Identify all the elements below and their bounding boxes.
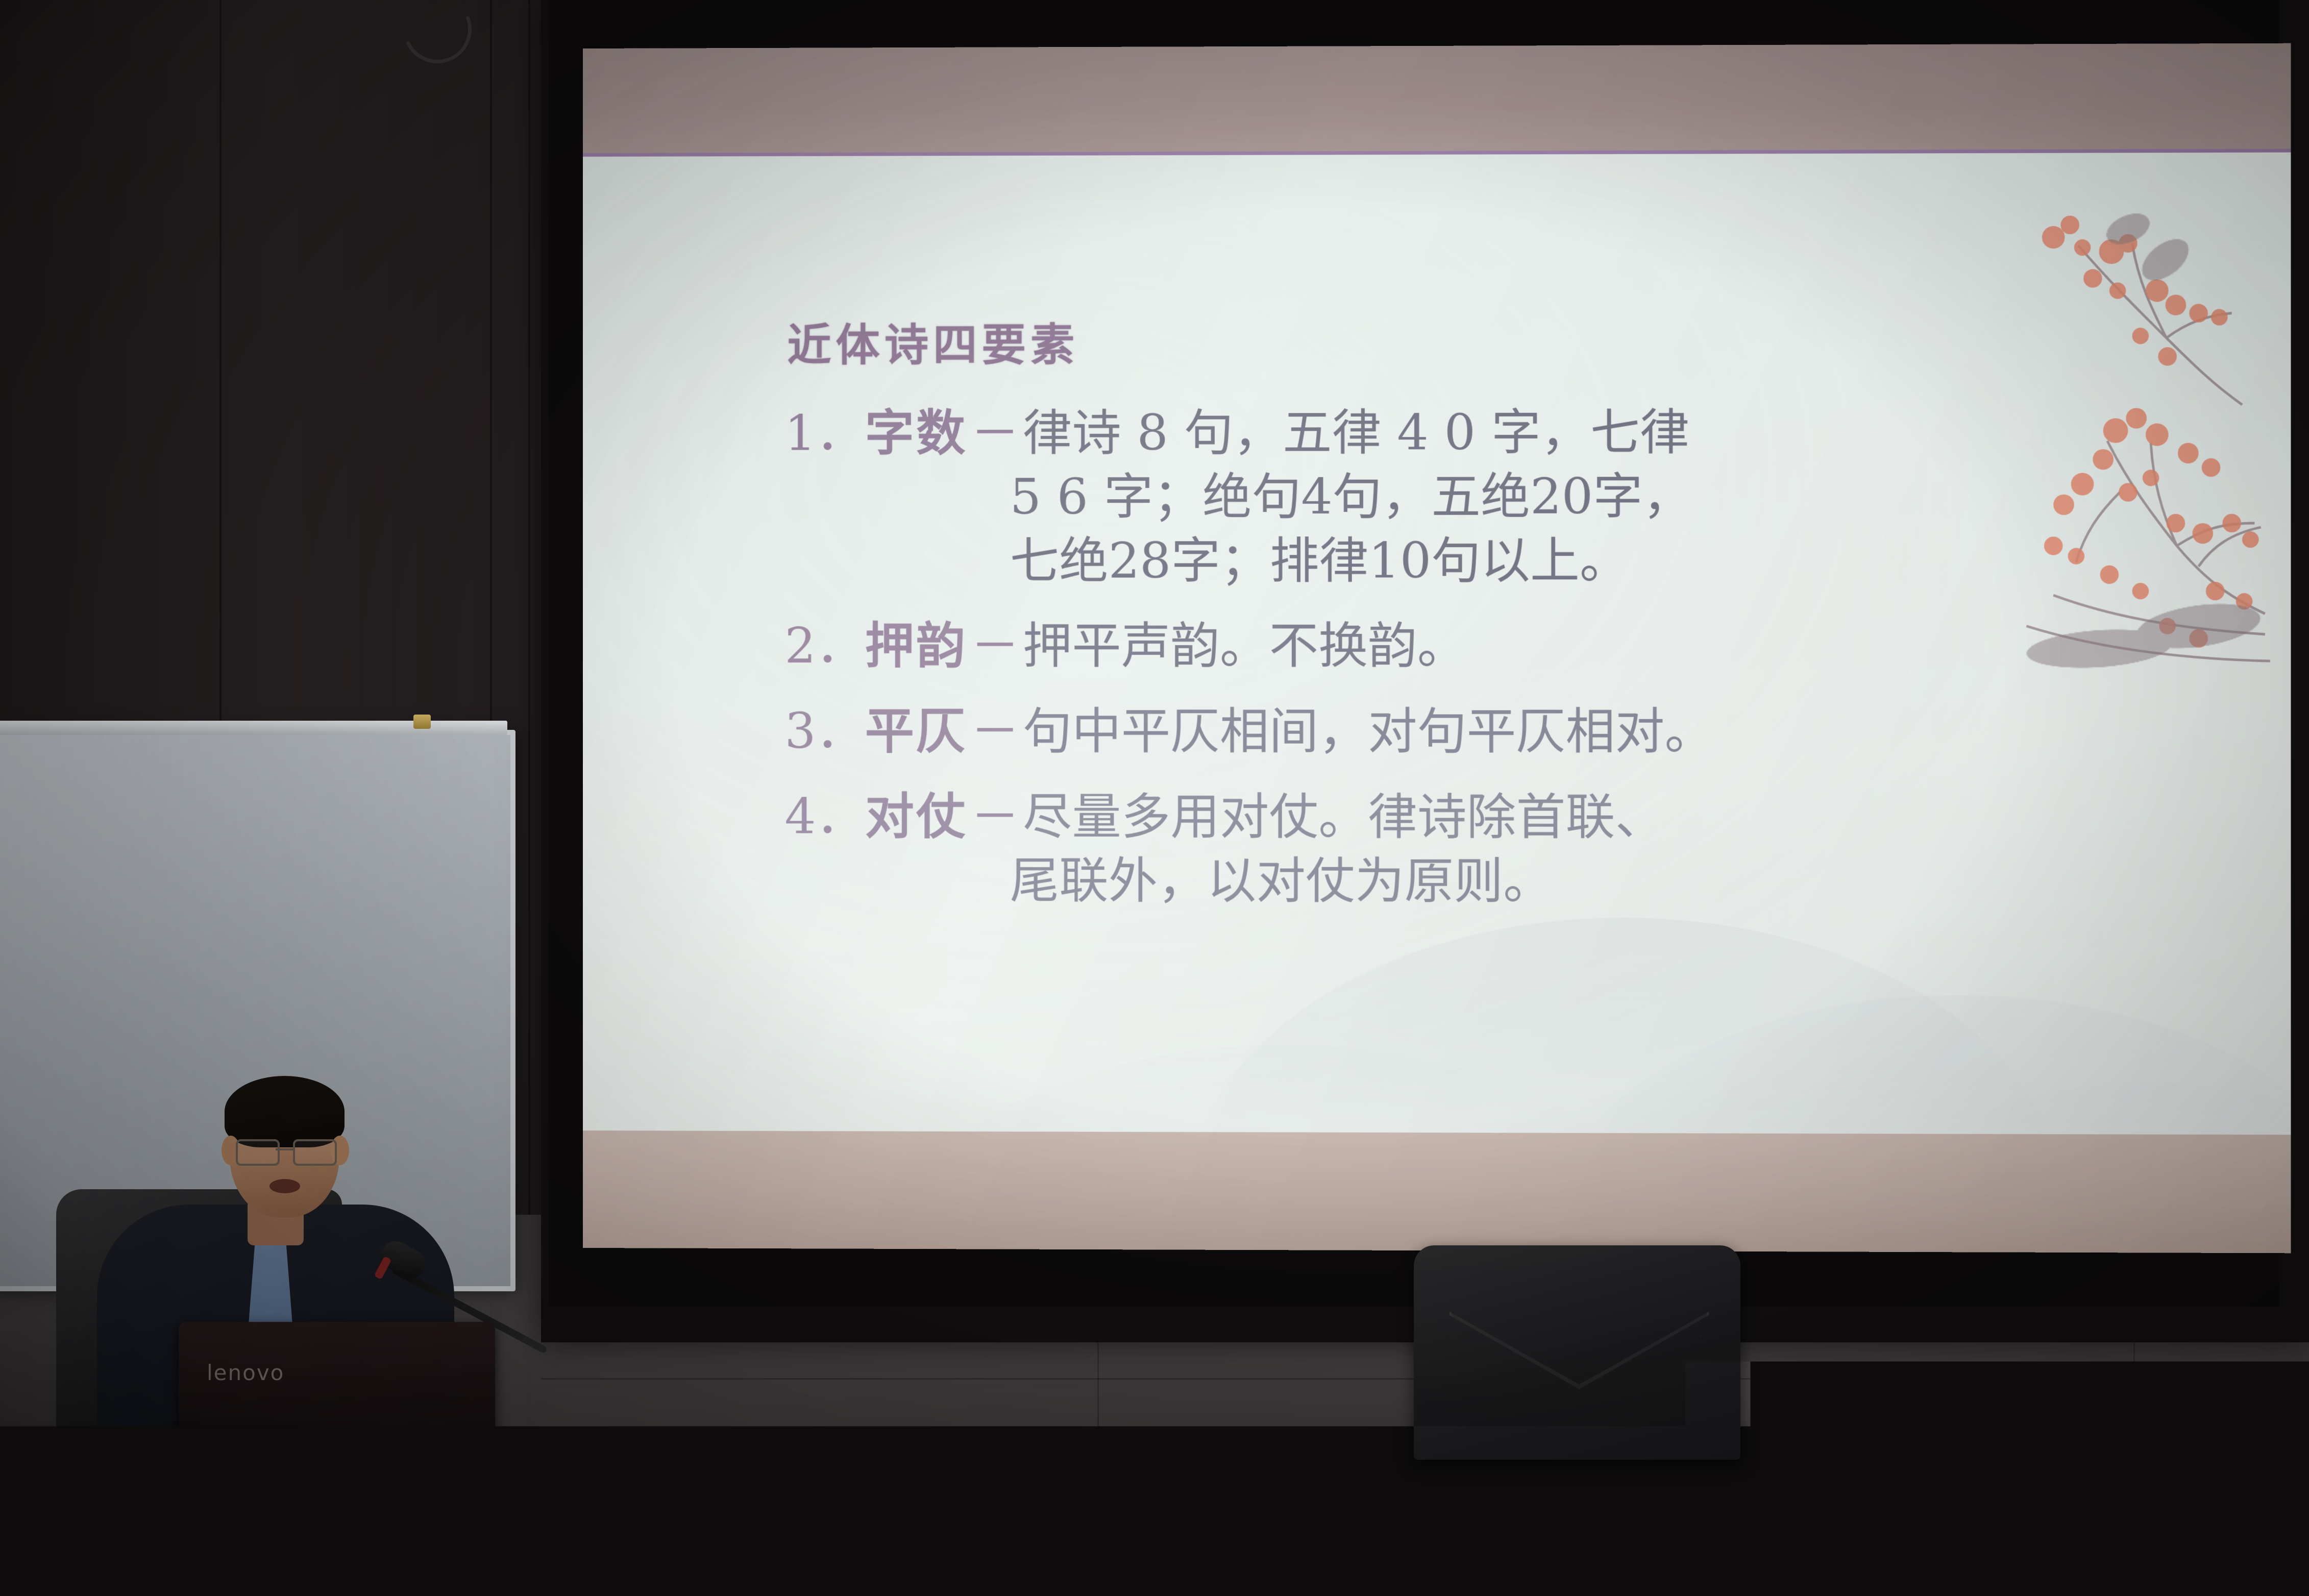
slide-top-band (583, 43, 2291, 153)
slide-bottom-band (583, 1131, 2291, 1253)
slide-item-3: 3．平仄－句中平仄相间，对句平仄相对。 (784, 699, 2233, 764)
podium-table-front (0, 1483, 1062, 1596)
eyeglasses-icon (233, 1139, 338, 1163)
handheld-microphone-head (714, 1444, 745, 1479)
slide-item-1-cont: 5 6 字；绝句4句，五绝20字， (784, 464, 2233, 529)
item-desc: 句中平仄相间，对句平仄相对。 (1023, 702, 1714, 760)
eyeglass-lens (293, 1139, 337, 1166)
item-desc: 律诗 8 句，五律 4 0 字，七律 (1023, 403, 1689, 461)
slide-body-text: 1．字数－律诗 8 句，五律 4 0 字，七律 5 6 字；绝句4句，五绝20字… (784, 400, 2233, 914)
item-term: 平仄 (865, 702, 968, 759)
speaker-hair (225, 1076, 345, 1147)
item-separator: － (967, 617, 1022, 674)
eyeglass-lens (236, 1139, 280, 1166)
slide-item-1-cont: 七绝28字；排律10句以上。 (784, 528, 2233, 593)
lecture-photo-scene: 近体诗四要素 1．字数－律诗 8 句，五律 4 0 字，七律 5 6 字；绝句4… (0, 0, 2309, 1596)
item-term: 字数 (865, 404, 968, 461)
slide-item-2: 2．押韵－押平声韵。不换韵。 (784, 614, 2233, 678)
slide-body: 近体诗四要素 1．字数－律诗 8 句，五律 4 0 字，七律 5 6 字；绝句4… (583, 153, 2291, 1135)
slide-item-4-cont: 尾联外，以对仗为原则。 (784, 848, 2233, 914)
front-table-front (1062, 1470, 2309, 1596)
item-number: 4． (784, 788, 865, 845)
eyeglass-bridge (276, 1148, 293, 1150)
whiteboard-frame (0, 721, 507, 735)
audience-head-silhouette (1878, 1519, 2021, 1596)
item-number: 3． (784, 702, 865, 759)
item-term: 押韵 (865, 617, 968, 674)
slide-item-1: 1．字数－律诗 8 句，五律 4 0 字，七律 (784, 400, 2233, 465)
item-number: 1． (784, 404, 865, 461)
presentation-slide: 近体诗四要素 1．字数－律诗 8 句，五律 4 0 字，七律 5 6 字；绝句4… (583, 43, 2291, 1254)
office-chair (1414, 1245, 1740, 1460)
item-number: 2． (784, 617, 865, 674)
laptop-brand-label: lenovo (207, 1360, 284, 1385)
audience-head-silhouette (1710, 1479, 1878, 1596)
slide-item-4: 4．对仗－尽量多用对仗。律诗除首联、 (784, 784, 2233, 850)
item-desc: 押平声韵。不换韵。 (1023, 617, 1467, 675)
speaker-mouth (269, 1179, 300, 1193)
nameplate-shine (153, 1427, 301, 1444)
slide-title: 近体诗四要素 (787, 309, 1079, 373)
item-separator: － (967, 404, 1022, 461)
item-term: 对仗 (865, 787, 968, 845)
item-separator: － (967, 788, 1022, 845)
audience-head-silhouette (689, 1509, 842, 1596)
item-separator: － (967, 702, 1022, 759)
whiteboard-mount-knob (413, 715, 431, 729)
item-desc: 尽量多用对仗。律诗除首联、 (1023, 788, 1665, 846)
